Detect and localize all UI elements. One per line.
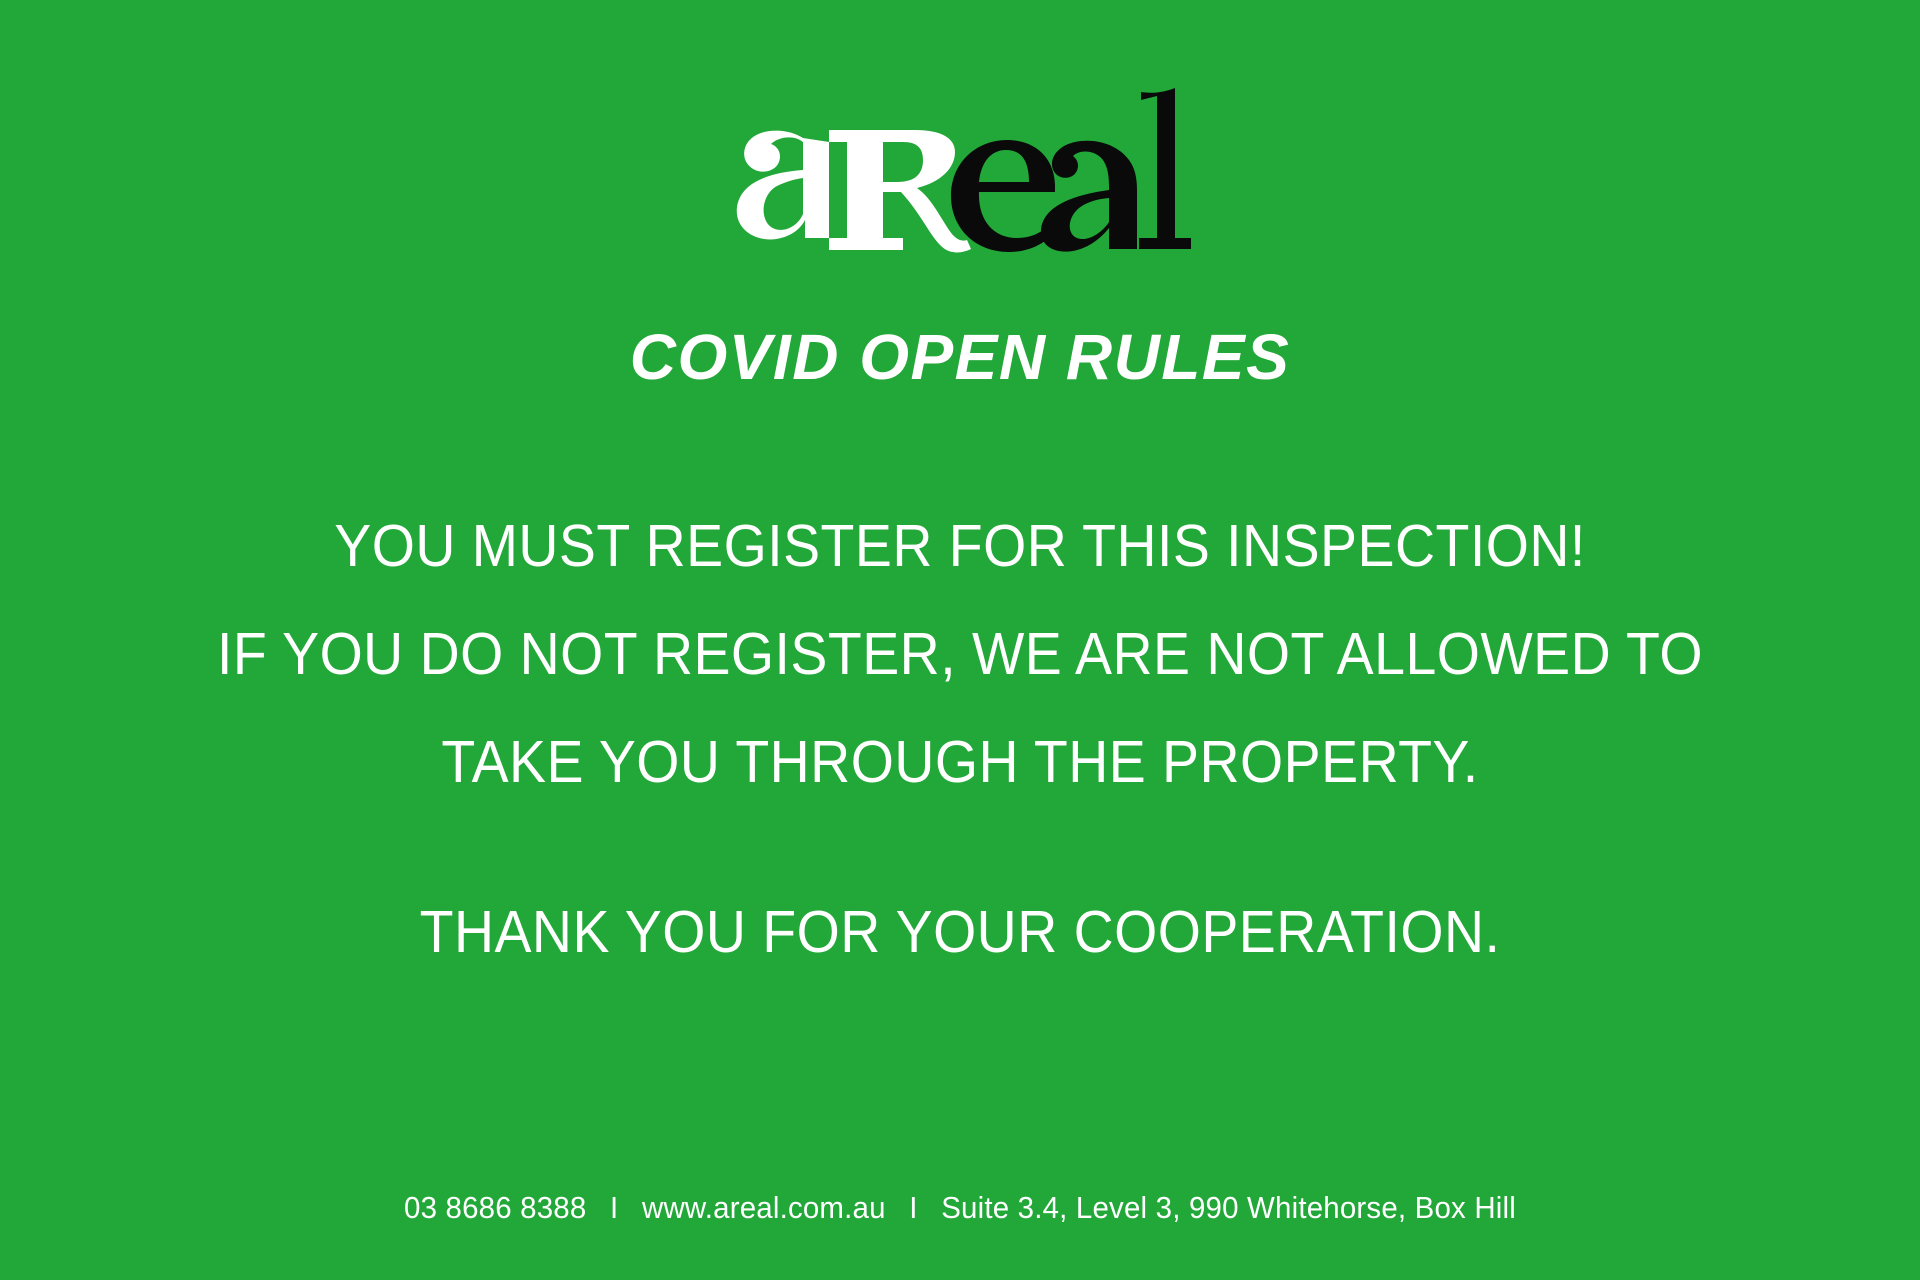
logo-letter-r: [829, 130, 971, 252]
areal-logo: [725, 86, 1195, 256]
logo-letter-a2: [1041, 141, 1137, 252]
logo-letter-l: [1139, 88, 1191, 249]
notice-line-3: TAKE YOU THROUGH THE PROPERTY.: [58, 708, 1863, 816]
notice-body: YOU MUST REGISTER FOR THIS INSPECTION! I…: [0, 492, 1920, 986]
footer-separator-2: I: [894, 1188, 933, 1228]
footer-separator-1: I: [595, 1188, 634, 1228]
contact-footer: 03 8686 8388 I www.areal.com.au I Suite …: [48, 1188, 1872, 1228]
footer-phone[interactable]: 03 8686 8388: [404, 1188, 586, 1228]
notice-line-4: THANK YOU FOR YOUR COOPERATION.: [58, 878, 1863, 986]
logo-letter-a: [737, 131, 829, 240]
footer-website[interactable]: www.areal.com.au: [642, 1188, 886, 1228]
page-title: COVID OPEN RULES: [0, 322, 1920, 392]
notice-line-1: YOU MUST REGISTER FOR THIS INSPECTION!: [58, 492, 1863, 600]
logo-letter-e: [951, 140, 1059, 252]
brand-logo: [0, 86, 1920, 246]
footer-address: Suite 3.4, Level 3, 990 Whitehorse, Box …: [941, 1188, 1516, 1228]
notice-line-2: IF YOU DO NOT REGISTER, WE ARE NOT ALLOW…: [58, 600, 1863, 708]
poster-canvas: COVID OPEN RULES YOU MUST REGISTER FOR T…: [0, 0, 1920, 1280]
